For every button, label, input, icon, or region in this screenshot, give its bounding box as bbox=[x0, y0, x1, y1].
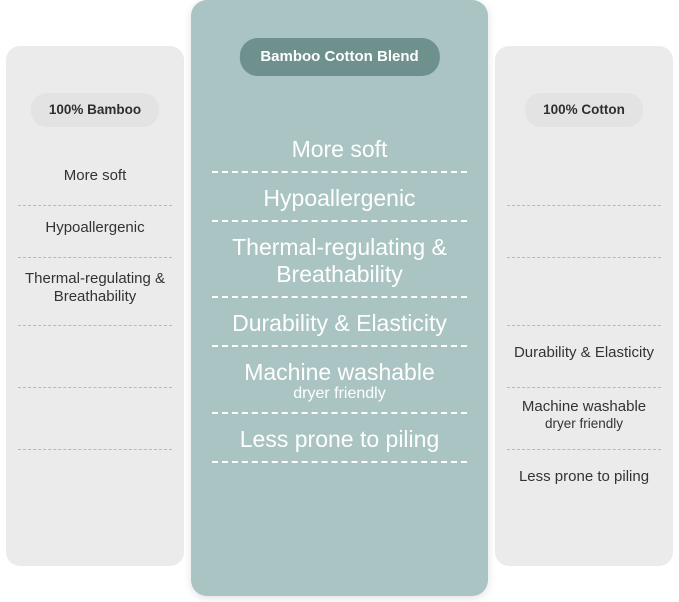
comparison-diagram: 100% Bamboo More soft Hypoallergenic The… bbox=[0, 0, 679, 602]
column-blend-title: Bamboo Cotton Blend bbox=[239, 38, 439, 76]
list-item: Machine washable dryer friendly bbox=[507, 388, 661, 450]
list-item: More soft bbox=[18, 154, 172, 206]
list-item-label: Less prone to piling bbox=[240, 426, 439, 452]
list-item bbox=[507, 154, 661, 206]
list-item: Durability & Elasticity bbox=[212, 310, 467, 347]
list-item: Durability & Elasticity bbox=[507, 326, 661, 388]
list-item: Thermal-regulating & Breathability bbox=[212, 234, 467, 298]
list-item-label: Less prone to piling bbox=[519, 468, 649, 493]
list-item-label: Machine washable dryer friendly bbox=[522, 398, 646, 439]
list-item bbox=[18, 388, 172, 450]
list-item: More soft bbox=[212, 136, 467, 173]
list-item-label: More soft bbox=[64, 167, 127, 192]
column-bamboo-list: More soft Hypoallergenic Thermal-regulat… bbox=[18, 154, 172, 512]
list-item bbox=[18, 326, 172, 388]
column-blend-list: More soft Hypoallergenic Thermal-regulat… bbox=[212, 136, 467, 475]
list-item-label: Hypoallergenic bbox=[263, 185, 415, 211]
column-cotton-title: 100% Cotton bbox=[525, 93, 643, 127]
list-item bbox=[507, 258, 661, 326]
column-cotton-list: Durability & Elasticity Machine washable… bbox=[507, 154, 661, 512]
list-item-label: Durability & Elasticity bbox=[514, 344, 654, 369]
list-item-label: Machine washable dryer friendly bbox=[212, 359, 467, 404]
list-item-subtext: dryer friendly bbox=[522, 416, 646, 432]
list-item-label: More soft bbox=[292, 136, 388, 162]
list-item bbox=[18, 450, 172, 512]
list-item-subtext: dryer friendly bbox=[212, 385, 467, 403]
list-item: Less prone to piling bbox=[212, 426, 467, 463]
list-item-label: Hypoallergenic bbox=[45, 219, 144, 244]
list-item: Hypoallergenic bbox=[212, 185, 467, 222]
list-item-text: Machine washable bbox=[244, 359, 435, 385]
column-bamboo: 100% Bamboo More soft Hypoallergenic The… bbox=[6, 46, 184, 566]
list-item bbox=[507, 206, 661, 258]
column-blend: Bamboo Cotton Blend More soft Hypoallerg… bbox=[191, 0, 488, 596]
column-cotton: 100% Cotton Durability & Elasticity Mach… bbox=[495, 46, 673, 566]
list-item: Less prone to piling bbox=[507, 450, 661, 512]
list-item: Thermal-regulating & Breathability bbox=[18, 258, 172, 326]
list-item-label: Durability & Elasticity bbox=[232, 310, 447, 336]
list-item-text: Machine washable bbox=[522, 398, 646, 415]
column-bamboo-title: 100% Bamboo bbox=[31, 93, 159, 127]
list-item-label: Thermal-regulating & Breathability bbox=[18, 270, 172, 314]
list-item: Machine washable dryer friendly bbox=[212, 359, 467, 414]
list-item: Hypoallergenic bbox=[18, 206, 172, 258]
list-item-label: Thermal-regulating & Breathability bbox=[232, 234, 447, 287]
